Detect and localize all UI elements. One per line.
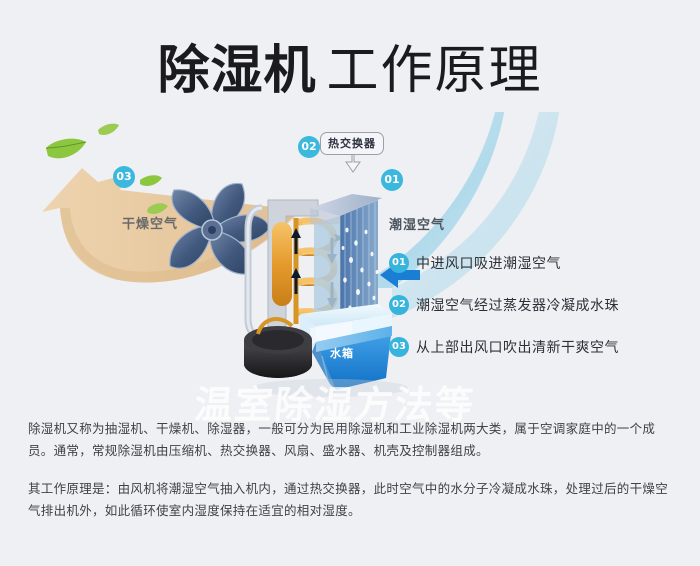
diagram-badge-heat-exchanger: 02: [298, 136, 320, 158]
list-item: 01 中进风口吸进潮湿空气: [389, 252, 689, 274]
ground-shadow: [252, 379, 408, 397]
body-copy: 除湿机又称为抽湿机、干燥机、除湿器，一般可分为民用除湿机和工业除湿机两大类，属于…: [28, 418, 676, 522]
step-text: 中进风口吸进潮湿空气: [416, 253, 561, 273]
step-badge: 03: [389, 337, 409, 357]
step-badge: 01: [389, 253, 409, 273]
diagram-badge-dry-air: 03: [113, 166, 135, 188]
infographic-page: 除湿机工作原理: [0, 0, 700, 566]
diagram-label-dry-air: 干燥空气: [122, 213, 178, 232]
step-text: 潮湿空气经过蒸发器冷凝成水珠: [416, 295, 619, 315]
paragraph-principle: 其工作原理是：由风机将潮湿空气抽入机内，通过热交换器，此时空气中的水分子冷凝成水…: [28, 478, 676, 522]
list-item: 02 潮湿空气经过蒸发器冷凝成水珠: [389, 294, 689, 316]
diagram-badge-humid-air: 01: [381, 169, 403, 191]
page-title-light: 工作原理: [327, 41, 543, 101]
page-title-strong: 除湿机: [157, 41, 316, 101]
step-badge: 02: [389, 295, 409, 315]
step-list: 01 中进风口吸进潮湿空气 02 潮湿空气经过蒸发器冷凝成水珠 03 从上部出风…: [389, 252, 689, 378]
diagram-callout-heat-exchanger: 热交换器: [320, 132, 384, 155]
paragraph-definition: 除湿机又称为抽湿机、干燥机、除湿器，一般可分为民用除湿机和工业除湿机两大类，属于…: [28, 418, 676, 462]
step-text: 从上部出风口吹出清新干爽空气: [416, 337, 619, 357]
page-title: 除湿机工作原理: [0, 28, 700, 103]
diagram-label-humid-air: 潮湿空气: [389, 214, 445, 233]
diagram-label-water-tank: 水箱: [330, 345, 354, 361]
list-item: 03 从上部出风口吹出清新干爽空气: [389, 336, 689, 358]
